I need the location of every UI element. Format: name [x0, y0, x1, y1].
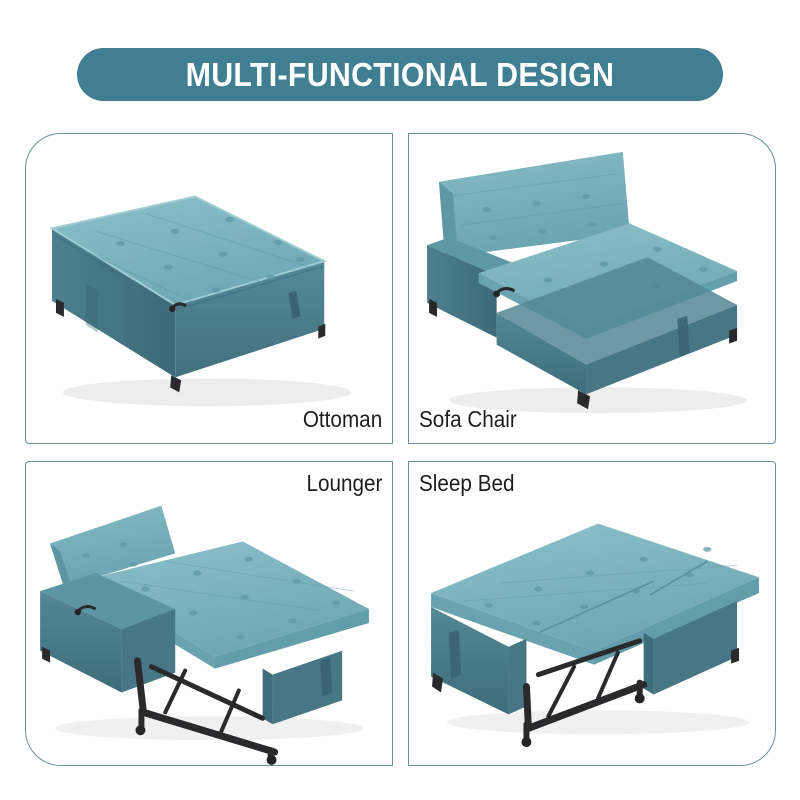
panel-label-sofa-chair: Sofa Chair [419, 408, 517, 431]
panel-lounger[interactable]: Lounger [25, 461, 393, 766]
page-title: MULTI-FUNCTIONAL DESIGN [186, 58, 615, 91]
sofa-chair-illustration [409, 134, 775, 443]
header-banner: MULTI-FUNCTIONAL DESIGN [77, 48, 723, 101]
sleep-bed-illustration [409, 462, 775, 765]
panel-label-ottoman: Ottoman [303, 408, 382, 431]
panel-label-sleep-bed: Sleep Bed [419, 472, 515, 495]
panel-sleep-bed[interactable]: Sleep Bed [408, 461, 776, 766]
infographic-canvas: MULTI-FUNCTIONAL DESIGN [0, 0, 800, 800]
panel-sofa-chair[interactable]: Sofa Chair [408, 133, 776, 444]
ottoman-illustration [26, 134, 392, 443]
panel-label-lounger: Lounger [306, 472, 382, 495]
lounger-illustration [26, 462, 392, 765]
panel-ottoman[interactable]: Ottoman [25, 133, 393, 444]
